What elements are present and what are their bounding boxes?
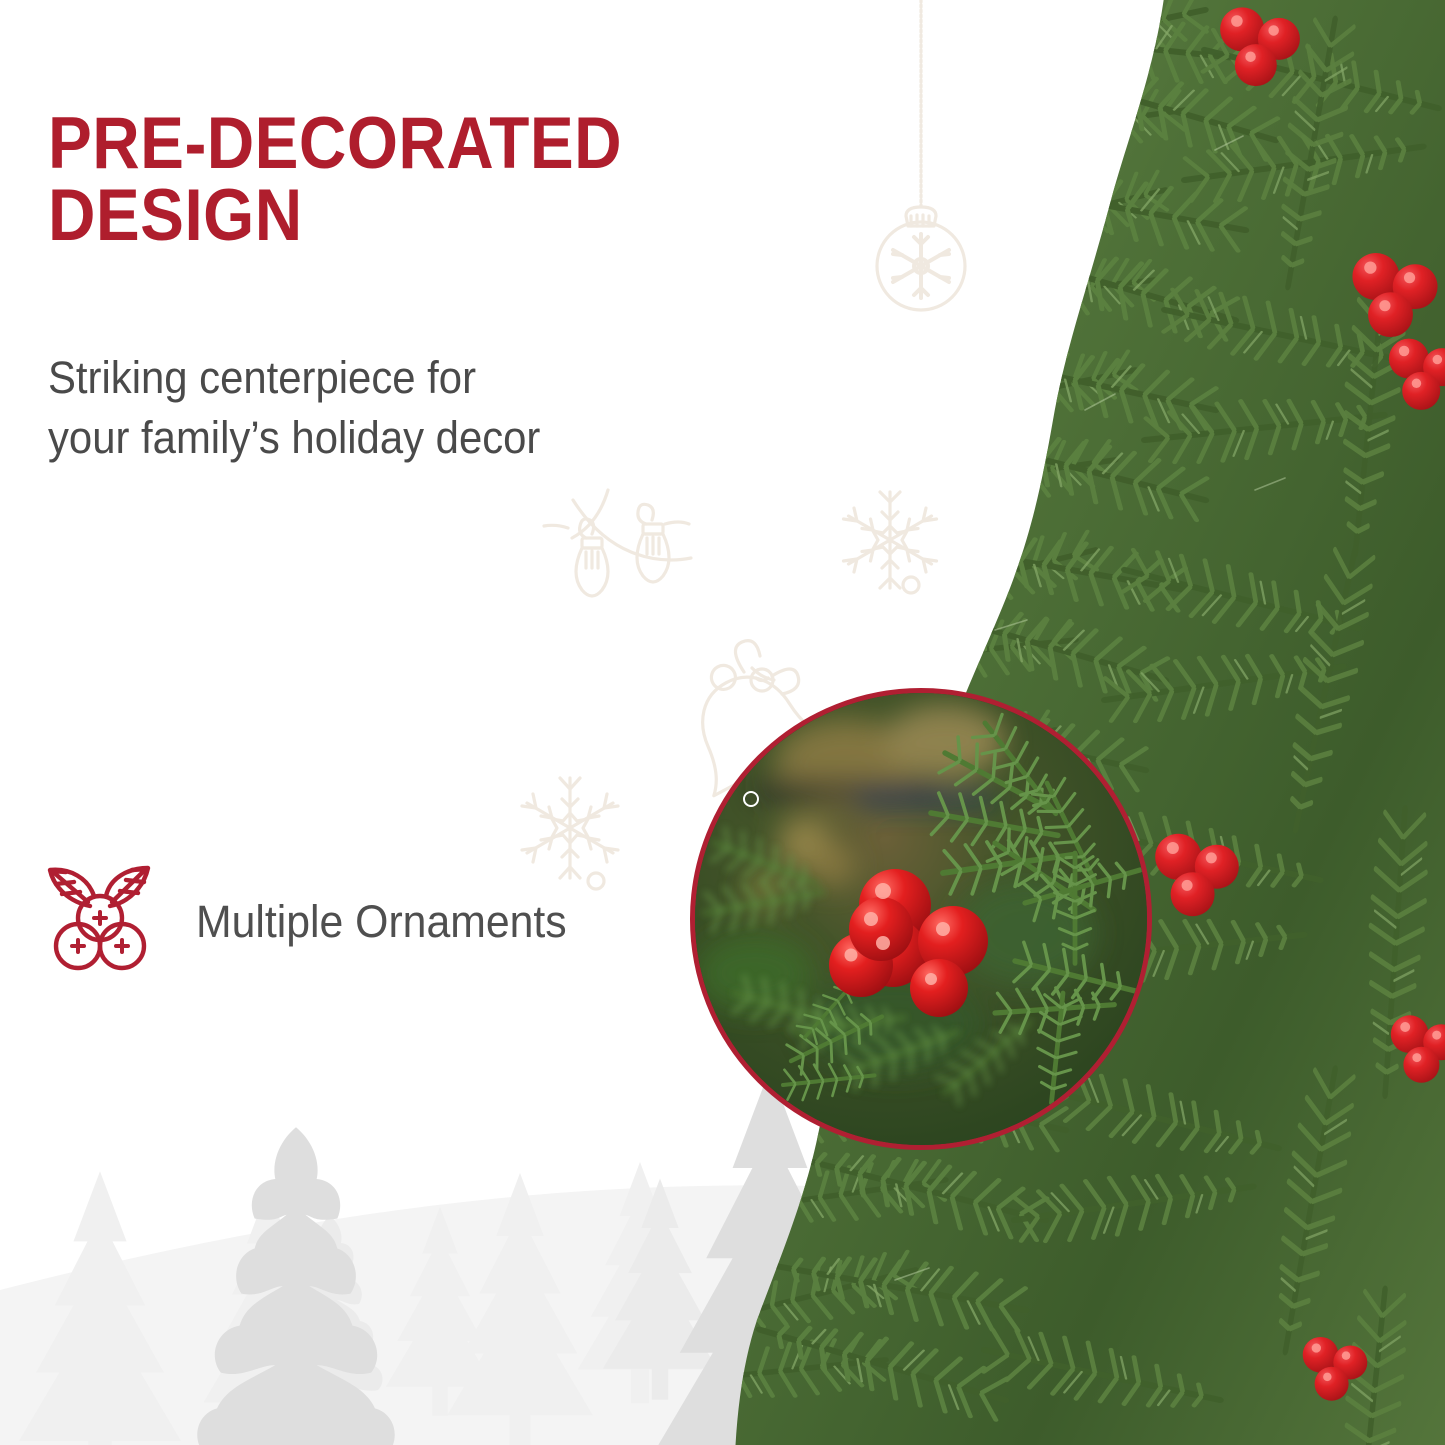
berry-cluster-icon [40,862,160,982]
feature-highlight: Multiple Ornaments [40,862,586,982]
feature-label: Multiple Ornaments [196,896,567,948]
string-lights-icon [544,490,691,596]
page-title: PRE-DECORATED DESIGN [48,108,732,253]
page-subtitle: Striking centerpiece for your family’s h… [48,348,755,468]
zoom-inset-photo [695,693,1147,1145]
subtitle-line-1: Striking centerpiece for [48,348,755,408]
headline-line-2: DESIGN [48,180,732,252]
subtitle-line-2: your family’s holiday decor [48,408,755,468]
white-ring-marker [743,791,759,807]
dot-icon [588,873,604,889]
headline-line-1: PRE-DECORATED [48,108,732,180]
zoom-inset-circle [690,688,1152,1150]
product-feature-banner: PRE-DECORATED DESIGN Striking centerpiec… [0,0,1445,1445]
